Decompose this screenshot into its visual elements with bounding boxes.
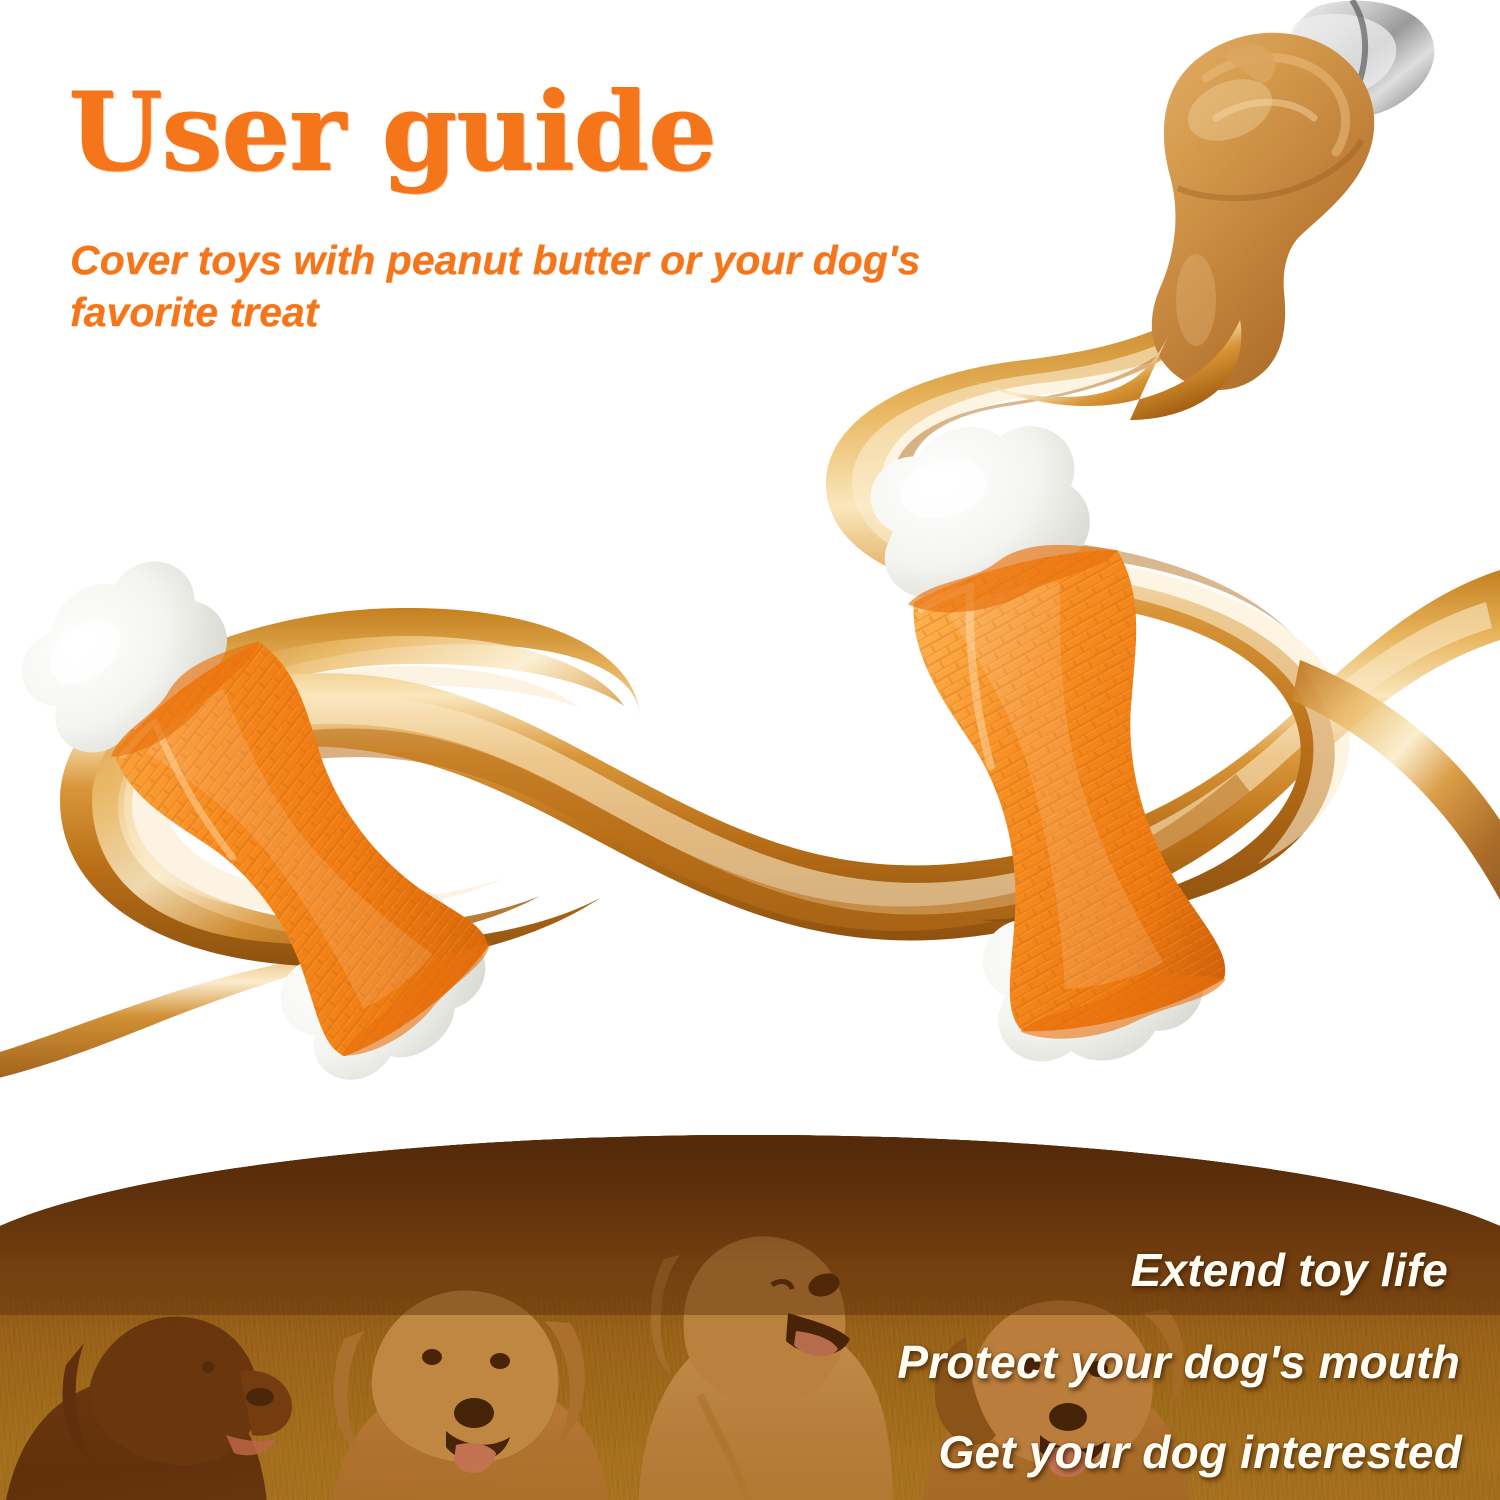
benefit-line-1: Extend toy life <box>1131 1243 1448 1297</box>
page-subtitle: Cover toys with peanut butter or your do… <box>70 234 940 339</box>
infographic-canvas: User guide Cover toys with peanut butter… <box>0 0 1500 1500</box>
bone-chew-toy-right-icon <box>846 395 1249 1086</box>
spoon-with-peanut-butter-icon <box>972 0 1434 420</box>
benefit-line-3: Get your dog interested <box>939 1425 1462 1479</box>
benefit-line-2: Protect your dog's mouth <box>897 1335 1460 1389</box>
page-title: User guide <box>68 78 716 186</box>
